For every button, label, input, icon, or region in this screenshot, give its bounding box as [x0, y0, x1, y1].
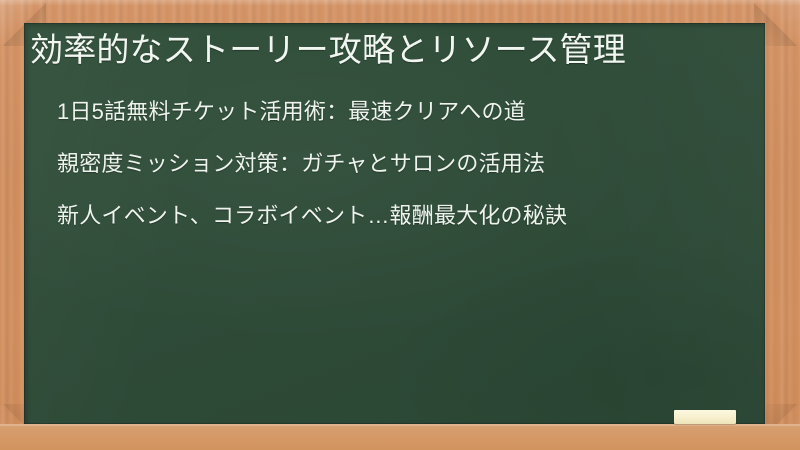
frame-top-highlight: [0, 0, 800, 6]
board-content: 効率的なストーリー攻略とリソース管理 1日5話無料チケット活用術：最速クリアへの…: [24, 23, 765, 424]
list-item: 新人イベント、コラボイベント…報酬最大化の秘訣: [30, 198, 747, 234]
chalkboard-surface: 効率的なストーリー攻略とリソース管理 1日5話無料チケット活用術：最速クリアへの…: [24, 23, 765, 424]
chalk-tray-lip: [0, 424, 800, 426]
board-title: 効率的なストーリー攻略とリソース管理: [30, 27, 730, 72]
chalk-tray-ledge: [0, 424, 800, 450]
list-item: 親密度ミッション対策：ガチャとサロンの活用法: [30, 146, 747, 182]
chalk-stick-icon: [674, 410, 736, 424]
chalkboard-scene: 効率的なストーリー攻略とリソース管理 1日5話無料チケット活用術：最速クリアへの…: [0, 0, 800, 450]
board-topic-list: 1日5話無料チケット活用術：最速クリアへの道 親密度ミッション対策：ガチャとサロ…: [30, 94, 753, 234]
list-item: 1日5話無料チケット活用術：最速クリアへの道: [30, 94, 747, 130]
